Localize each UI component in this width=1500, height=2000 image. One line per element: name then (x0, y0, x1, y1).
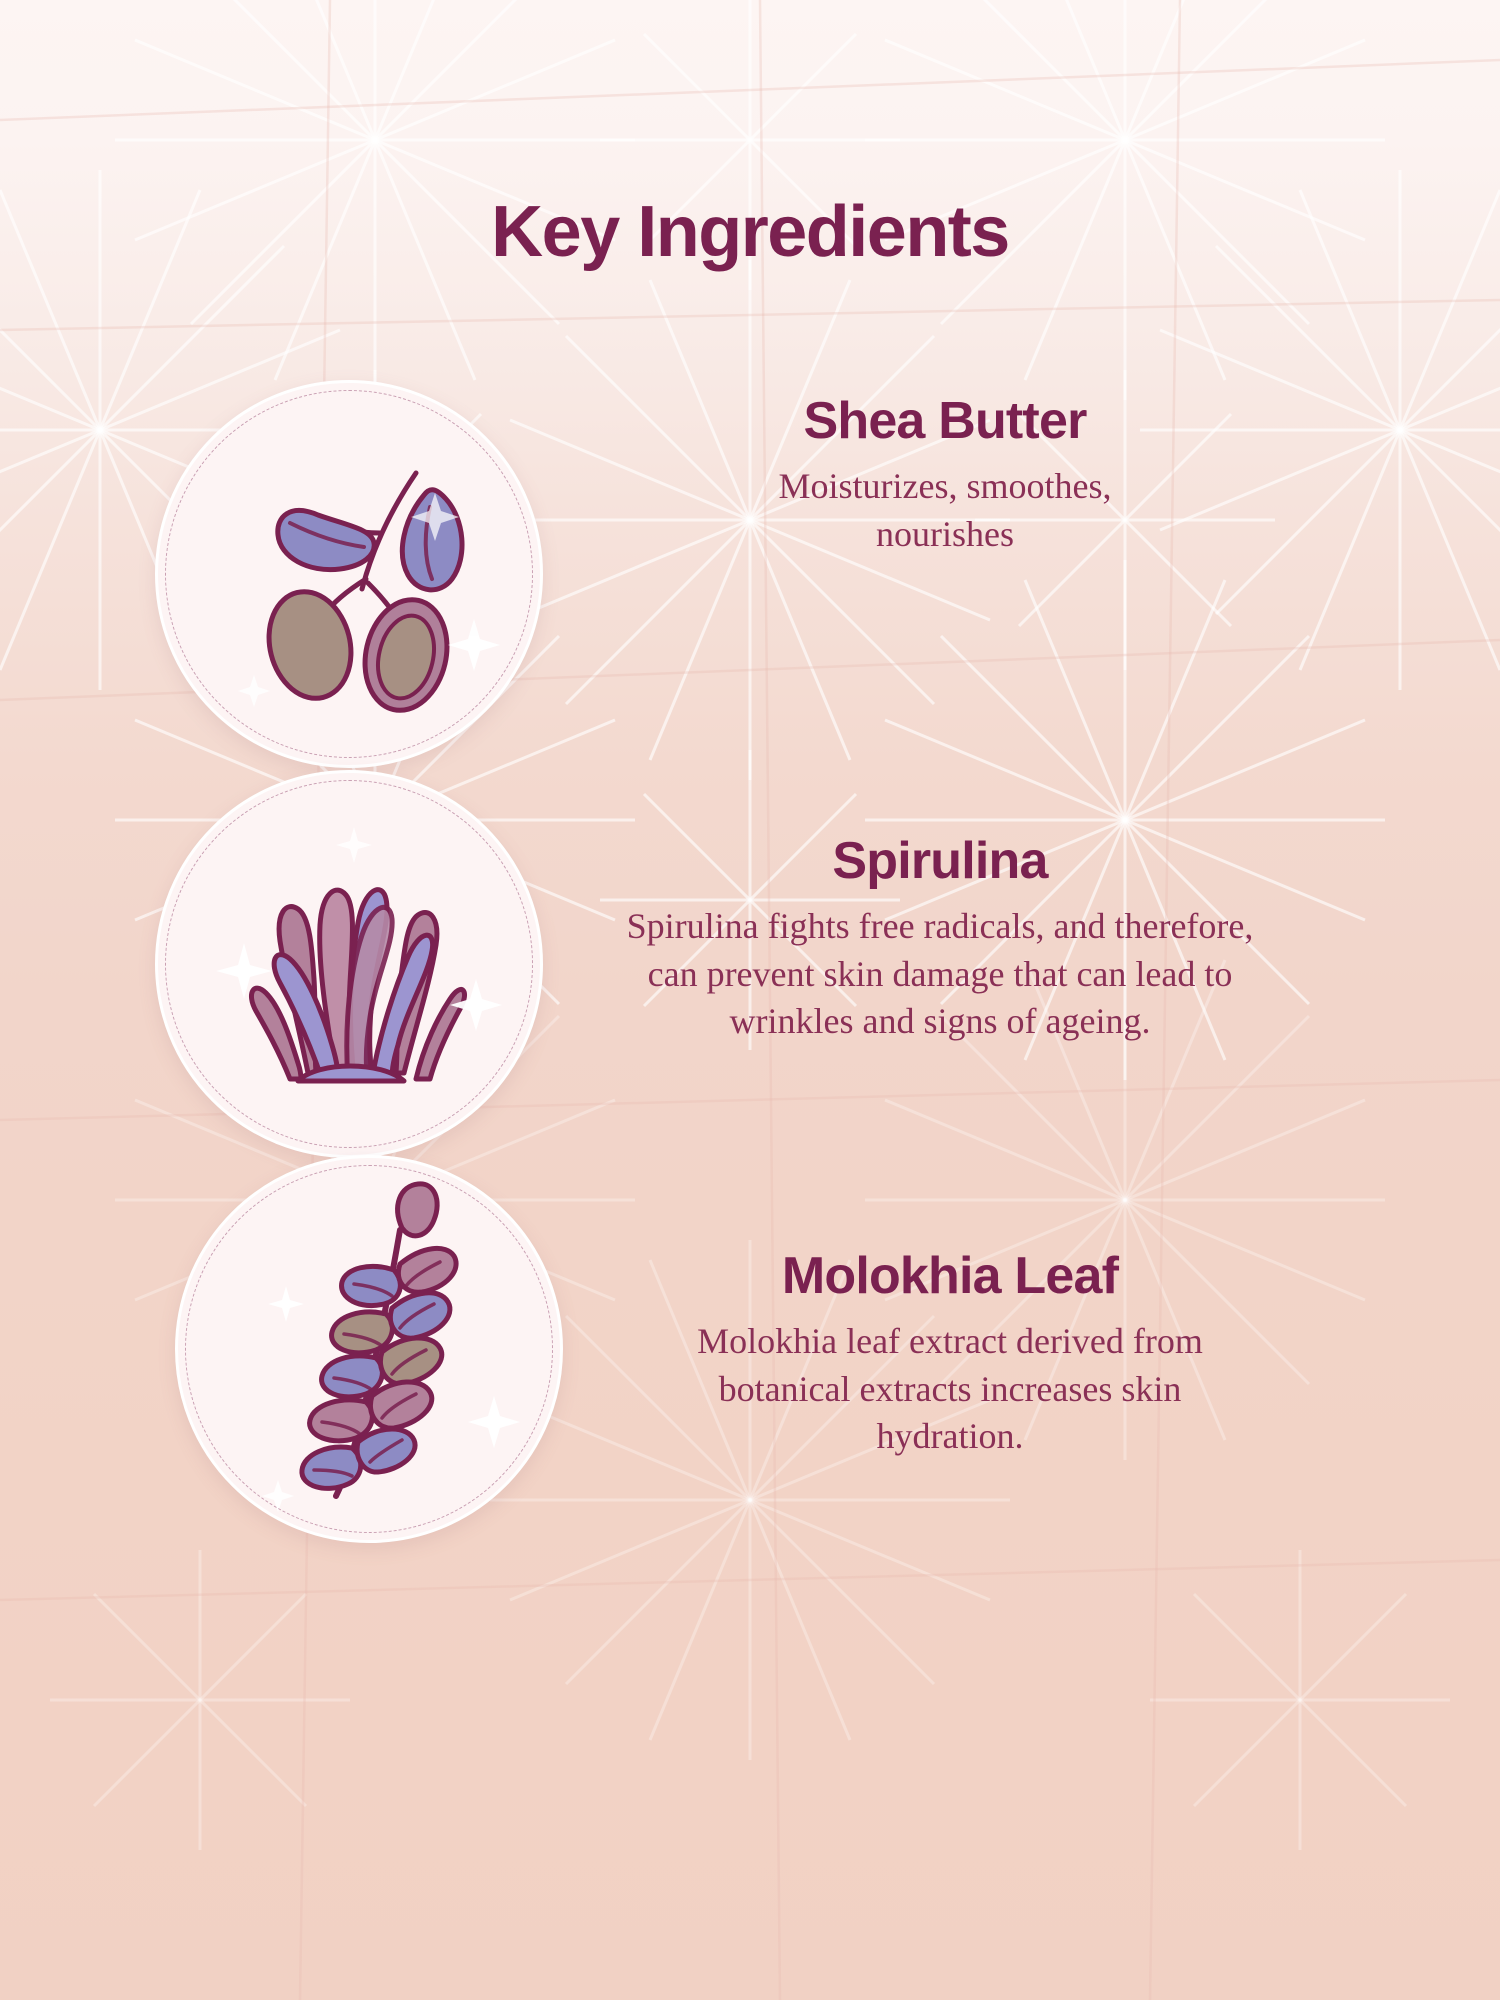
ingredient-text-spirulina: Spirulina Spirulina fights free radicals… (500, 834, 1380, 1046)
ingredient-name: Spirulina (500, 834, 1380, 889)
ingredient-icon-badge-molokhia-leaf (175, 1155, 563, 1543)
molokhia-leaf-sprig-icon (178, 1158, 560, 1540)
spirulina-seaweed-icon (158, 773, 540, 1155)
ingredient-name: Molokhia Leaf (520, 1249, 1380, 1304)
ingredient-description: Moisturizes, smoothes, nourishes (710, 463, 1180, 558)
ingredient-icon-badge-shea-butter (155, 380, 543, 768)
ingredient-description: Molokhia leaf extract derived from botan… (660, 1318, 1240, 1461)
page-title: Key Ingredients (0, 196, 1500, 268)
ingredient-name: Shea Butter (520, 394, 1370, 449)
ingredient-text-molokhia-leaf: Molokhia Leaf Molokhia leaf extract deri… (520, 1249, 1380, 1461)
ingredient-icon-badge-spirulina (155, 770, 543, 1158)
shea-nut-branch-icon (158, 383, 540, 765)
key-ingredients-poster: Key Ingredients (0, 0, 1500, 2000)
ingredient-text-shea-butter: Shea Butter Moisturizes, smoothes, nouri… (520, 394, 1370, 558)
ingredient-description: Spirulina fights free radicals, and ther… (620, 903, 1260, 1046)
